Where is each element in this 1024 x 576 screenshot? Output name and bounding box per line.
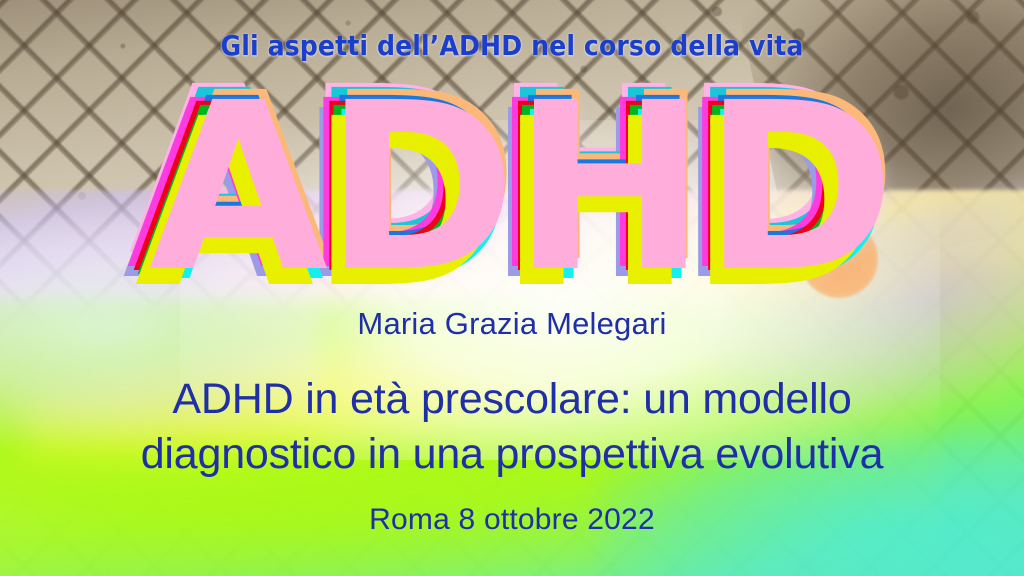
adhd-wordmark: ADHDADHDADHDADHDADHDADHDADHDADHDADHDADHD…	[0, 78, 1024, 298]
adhd-wordmark-layer-pink-light: ADHD	[8, 80, 1024, 296]
adhd-wordmark-stack: ADHDADHDADHDADHDADHDADHDADHDADHDADHDADHD…	[0, 78, 1024, 298]
talk-title-line-2: diagnostico in una prospettiva evolutiva	[40, 427, 984, 482]
talk-title-line-1: ADHD in età prescolare: un modello	[40, 372, 984, 427]
talk-title: ADHD in età prescolare: un modello diagn…	[40, 372, 984, 482]
venue-date: Roma 8 ottobre 2022	[0, 503, 1024, 537]
presentation-slide: Gli aspetti dell’ADHD nel corso della vi…	[0, 0, 1024, 576]
